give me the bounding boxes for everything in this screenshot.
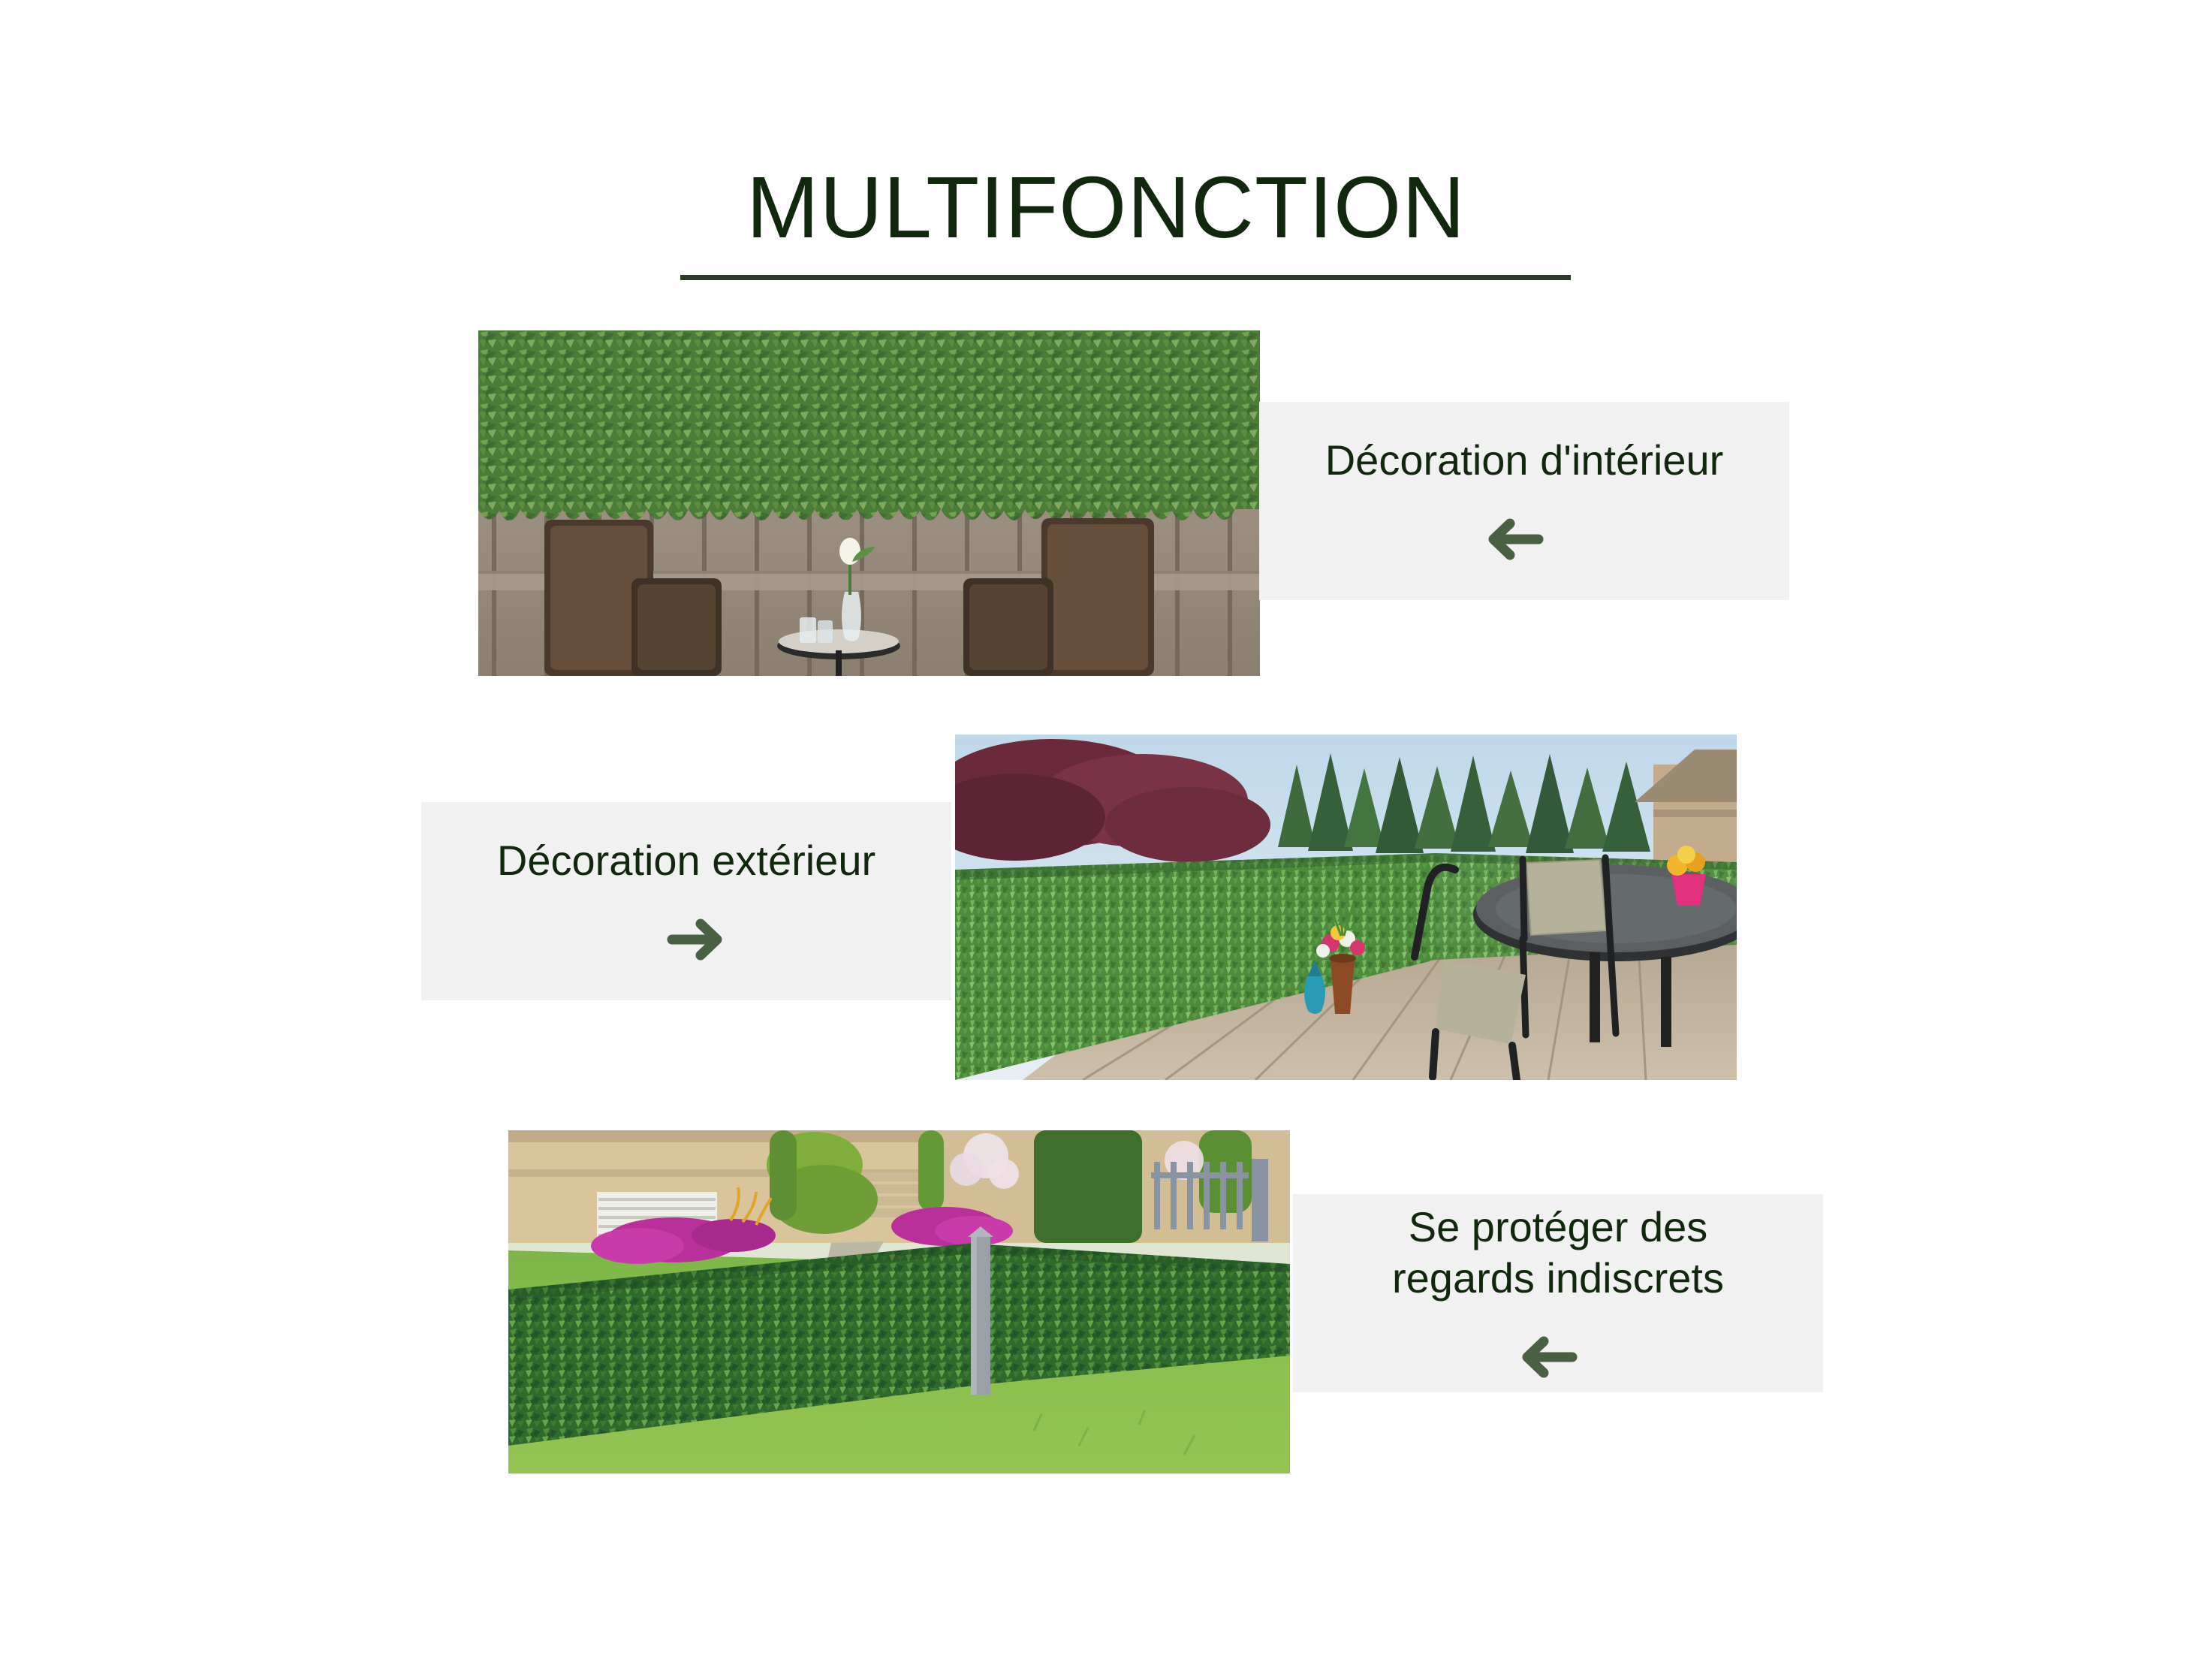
title-underline	[680, 275, 1571, 280]
arrow-left-icon	[1517, 1329, 1599, 1385]
infographic-page: MULTIFONCTION	[0, 0, 2212, 1659]
feature-caption-text-privacy: Se protéger des regards indiscrets	[1370, 1202, 1746, 1305]
arrow-right-icon	[645, 912, 728, 967]
feature-photo-interior	[478, 330, 1260, 676]
feature-caption-text-exterior: Décoration extérieur	[475, 835, 898, 886]
page-title: MULTIFONCTION	[0, 164, 2212, 251]
photo-exterior-illustration	[955, 734, 1737, 1080]
photo-interior-illustration	[478, 330, 1260, 676]
arrow-left-icon	[1483, 511, 1566, 567]
feature-photo-exterior	[955, 734, 1737, 1080]
feature-photo-privacy	[508, 1130, 1290, 1473]
feature-caption-interior: Décoration d'intérieur	[1259, 402, 1789, 600]
photo-privacy-illustration	[508, 1130, 1290, 1473]
feature-caption-exterior: Décoration extérieur	[421, 802, 951, 1000]
feature-caption-text-interior: Décoration d'intérieur	[1303, 435, 1746, 486]
feature-caption-privacy: Se protéger des regards indiscrets	[1293, 1194, 1823, 1392]
